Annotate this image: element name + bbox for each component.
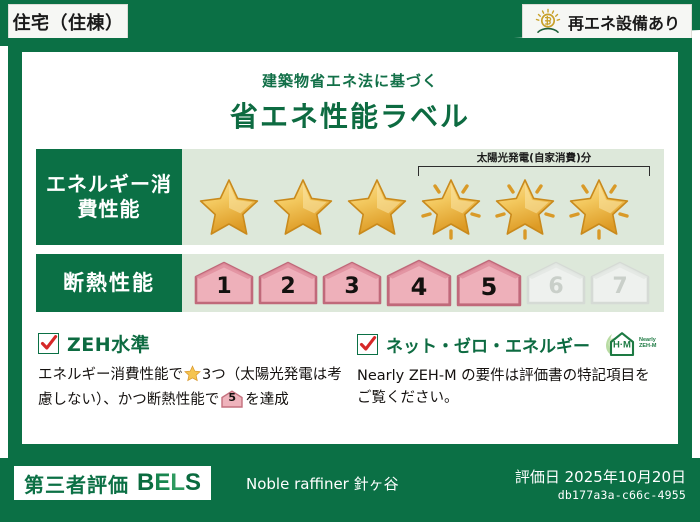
footer-bar: 第三者評価 BELS Noble raffiner 針ヶ谷 評価日 2025年1… [0, 458, 700, 522]
insulation-level-6: 6 [526, 261, 586, 305]
evaluation-date: 評価日 2025年10月20日 [515, 466, 686, 487]
energy-star-rating [192, 171, 656, 243]
insulation-level-value: 2 [280, 276, 295, 305]
performance-rows: エネルギー消費性能 太陽光発電(自家消費)分 断熱性能 1234567 [22, 149, 678, 312]
insulation-level-value: 1 [216, 276, 231, 305]
insulation-performance-meter: 1234567 [182, 254, 664, 312]
insulation-level-3: 3 [322, 261, 382, 305]
star-3 [340, 172, 414, 242]
net-zero-energy-column: ネット・ゼロ・エネルギー H·M Nearly ZEH-M [357, 330, 662, 412]
zeh-standard-title: ZEH水準 [67, 330, 150, 357]
bels-letter: B [137, 469, 154, 496]
zeh-standard-description: エネルギー消費性能で 3つ（太陽光発電は考慮しない）、かつ断熱性能で 5を達成 [38, 364, 343, 412]
insulation-level-value: 3 [344, 276, 359, 305]
star-1 [192, 172, 266, 242]
insulation-performance-label: 断熱性能 [36, 254, 182, 312]
zeh-standard-checkbox[interactable] [38, 333, 59, 354]
nearly-zeh-m-caption-2: ZEH-M [639, 344, 656, 350]
net-zero-energy-description: Nearly ZEH-M の要件は評価書の特記項目をご覧ください。 [357, 365, 662, 410]
page-subtitle: 建築物省エネ法に基づく [22, 70, 678, 91]
bels-letter: S [185, 469, 201, 496]
star-2 [266, 172, 340, 242]
building-type-chip: 住宅（住棟） [8, 4, 128, 40]
insulation-level-scale: 1234567 [194, 254, 656, 312]
star-4 [414, 172, 488, 242]
zeh-standard-text-c: を達成 [245, 392, 289, 408]
project-name: Noble raffiner 針ヶ谷 [246, 473, 399, 494]
zeh-standard-column: ZEH水準 エネルギー消費性能で 3つ（太陽光発電は考慮しない）、かつ断熱性能で… [38, 330, 343, 412]
insulation-level-value: 4 [411, 275, 428, 307]
star-6 [562, 172, 636, 242]
bels-letter: L [170, 469, 185, 496]
energy-performance-row: エネルギー消費性能 太陽光発電(自家消費)分 [36, 149, 664, 245]
insulation-level-value: 7 [612, 276, 627, 305]
page-title: 省エネ性能ラベル [22, 95, 678, 135]
insulation-level-value: 5 [481, 275, 498, 307]
insulation-level-7: 7 [590, 261, 650, 305]
bels-wordmark: BELS [137, 469, 201, 497]
evaluation-id: db177a3a-c66c-4955 [558, 488, 686, 502]
inline-star-icon [184, 365, 201, 389]
energy-label-card: 住宅（住棟） 再エネ設備あり [0, 0, 700, 522]
insulation-level-4: 4 [386, 259, 452, 307]
third-party-evaluation-label: 第三者評価 [24, 469, 129, 498]
nearly-zeh-m-logo: H·M Nearly ZEH-M [603, 330, 656, 358]
check-icon [40, 334, 58, 353]
insulation-level-5: 5 [456, 259, 522, 307]
check-icon [359, 335, 377, 354]
renewable-equipment-label: 再エネ設備あり [568, 10, 680, 34]
inline-insulation-badge: 5 [221, 390, 243, 408]
svg-text:H·M: H·M [613, 339, 631, 350]
energy-performance-meter: 太陽光発電(自家消費)分 [182, 149, 664, 245]
net-zero-energy-checkbox[interactable] [357, 334, 378, 355]
insulation-performance-row: 断熱性能 1234567 [36, 254, 664, 312]
net-zero-energy-title: ネット・ゼロ・エネルギー [386, 332, 590, 357]
renewable-equipment-chip: 再エネ設備あり [522, 4, 692, 40]
insulation-level-value: 6 [548, 276, 563, 305]
label-body-inner: 建築物省エネ法に基づく 省エネ性能ラベル エネルギー消費性能 太陽光発電(自家消… [22, 52, 678, 444]
net-zero-energy-header: ネット・ゼロ・エネルギー H·M Nearly ZEH-M [357, 330, 662, 358]
zeh-standard-header: ZEH水準 [38, 330, 343, 357]
star-5 [488, 172, 562, 242]
insulation-level-1: 1 [194, 261, 254, 305]
inline-insulation-badge-value: 5 [221, 390, 243, 408]
sun-solar-icon [534, 8, 562, 36]
zeh-house-icon: H·M [603, 330, 637, 358]
zeh-standard-text-a: エネルギー消費性能で [38, 367, 183, 383]
insulation-level-2: 2 [258, 261, 318, 305]
page-title-block: 建築物省エネ法に基づく 省エネ性能ラベル [22, 52, 678, 135]
zeh-criteria-block: ZEH水準 エネルギー消費性能で 3つ（太陽光発電は考慮しない）、かつ断熱性能で… [22, 312, 678, 412]
label-body: 建築物省エネ法に基づく 省エネ性能ラベル エネルギー消費性能 太陽光発電(自家消… [8, 38, 692, 458]
building-type-label: 住宅（住棟） [13, 9, 124, 35]
bels-certification-badge: 第三者評価 BELS [14, 466, 211, 500]
bels-letter: E [154, 469, 170, 496]
solar-bracket-label: 太陽光発電(自家消費)分 [418, 150, 650, 165]
energy-performance-label: エネルギー消費性能 [36, 149, 182, 245]
